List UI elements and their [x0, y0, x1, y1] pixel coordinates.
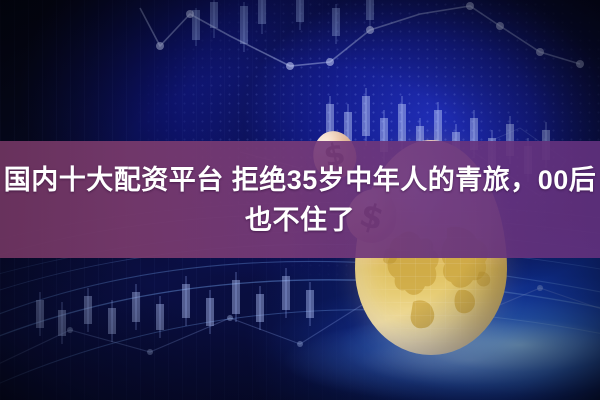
title-band: 国内十大配资平台 拒绝35岁中年人的青旅，00后 也不住了: [0, 141, 600, 258]
title-line-1: 国内十大配资平台 拒绝35岁中年人的青旅，00后: [4, 160, 597, 200]
title-line-2: 也不住了: [245, 200, 355, 240]
banner-image: $ $ 国内十大配资平台 拒绝35岁中年人的青旅，00后 也不住了: [0, 0, 600, 400]
